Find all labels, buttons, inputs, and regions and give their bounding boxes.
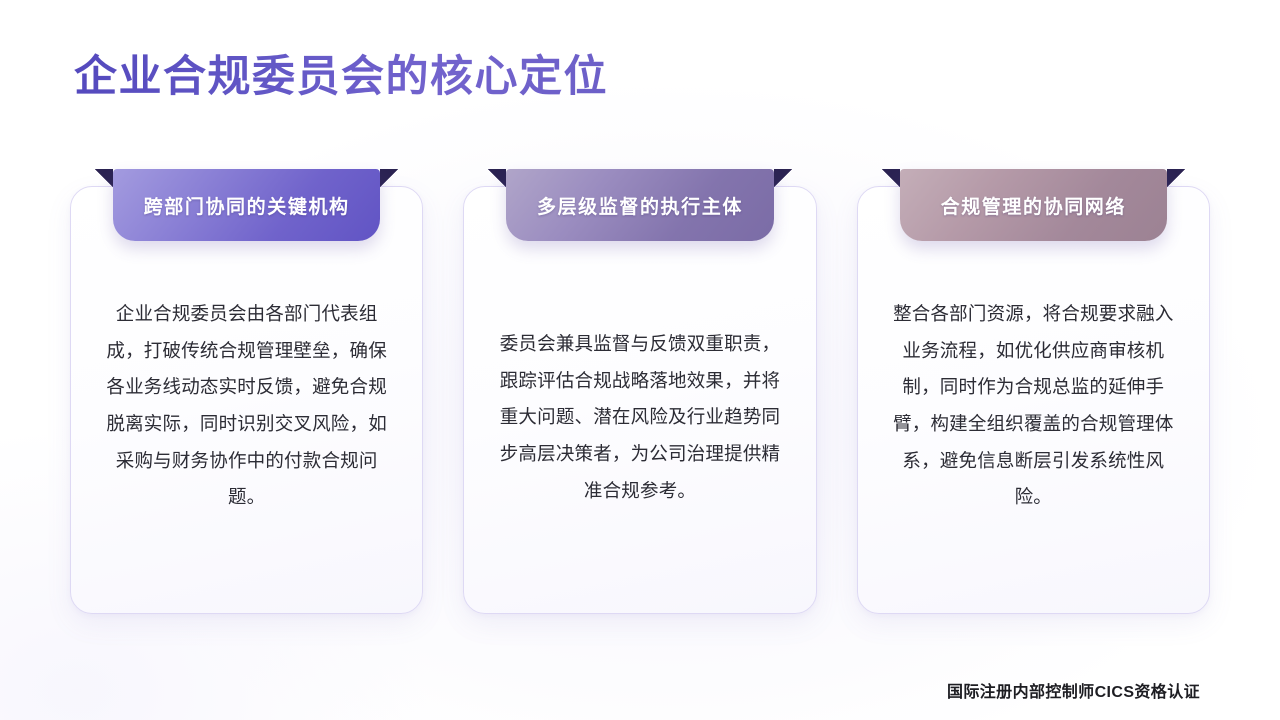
card-2-ribbon-wrap: 多层级监督的执行主体 — [506, 169, 773, 241]
ribbon-fold-right-icon — [1167, 169, 1185, 187]
card-3-ribbon: 合规管理的协同网络 — [900, 169, 1167, 241]
footer-certification-label: 国际注册内部控制师CICS资格认证 — [947, 678, 1200, 702]
card-3[interactable]: 合规管理的协同网络 整合各部门资源，将合规要求融入业务流程，如优化供应商审核机制… — [857, 186, 1210, 614]
ribbon-fold-left-icon — [95, 169, 113, 187]
ribbon-fold-left-icon — [488, 169, 506, 187]
card-3-header-label: 合规管理的协同网络 — [941, 192, 1126, 219]
card-1-ribbon-wrap: 跨部门协同的关键机构 — [113, 169, 380, 241]
card-1-body-text: 企业合规委员会由各部门代表组成，打破传统合规管理壁垒，确保各业务线动态实时反馈，… — [71, 271, 422, 547]
card-2[interactable]: 多层级监督的执行主体 委员会兼具监督与反馈双重职责，跟踪评估合规战略落地效果，并… — [463, 186, 816, 614]
card-1-ribbon: 跨部门协同的关键机构 — [113, 169, 380, 241]
ribbon-fold-right-icon — [380, 169, 398, 187]
card-3-ribbon-wrap: 合规管理的协同网络 — [900, 169, 1167, 241]
page-title: 企业合规委员会的核心定位 — [74, 52, 608, 103]
ribbon-fold-right-icon — [774, 169, 792, 187]
card-row: 跨部门协同的关键机构 企业合规委员会由各部门代表组成，打破传统合规管理壁垒，确保… — [70, 186, 1210, 614]
card-1[interactable]: 跨部门协同的关键机构 企业合规委员会由各部门代表组成，打破传统合规管理壁垒，确保… — [70, 186, 423, 614]
card-3-body-text: 整合各部门资源，将合规要求融入业务流程，如优化供应商审核机制，同时作为合规总监的… — [858, 271, 1209, 547]
card-2-header-label: 多层级监督的执行主体 — [537, 192, 743, 219]
ribbon-fold-left-icon — [882, 169, 900, 187]
card-2-body-text: 委员会兼具监督与反馈双重职责，跟踪评估合规战略落地效果，并将重大问题、潜在风险及… — [464, 271, 815, 540]
card-2-ribbon: 多层级监督的执行主体 — [506, 169, 773, 241]
card-1-header-label: 跨部门协同的关键机构 — [144, 192, 350, 219]
